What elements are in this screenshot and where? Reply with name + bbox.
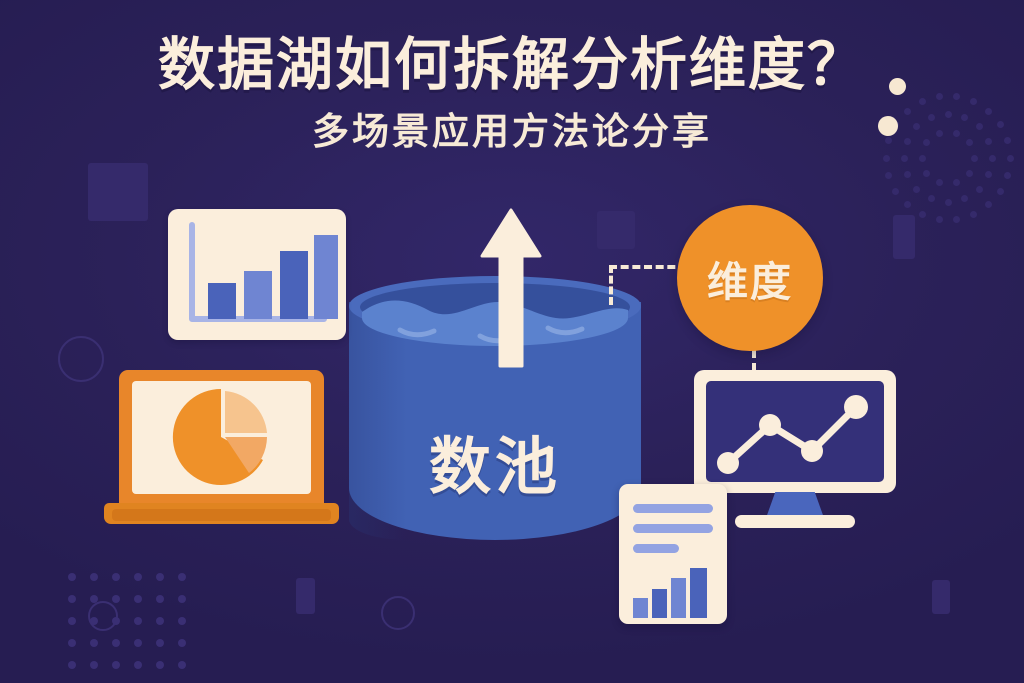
- deco-dot: [997, 188, 1004, 195]
- line-chart-icon: [706, 381, 884, 482]
- deco-dot: [985, 201, 992, 208]
- deco-dot: [156, 595, 164, 603]
- deco-ring-bottom-left: [381, 596, 415, 630]
- doc-text-line-1: [633, 504, 713, 513]
- deco-dot: [904, 171, 911, 178]
- deco-dot: [936, 216, 943, 223]
- deco-dot: [178, 617, 186, 625]
- deco-dot: [885, 172, 892, 179]
- deco-dot: [936, 179, 943, 186]
- doc-text-line-2: [633, 524, 713, 533]
- deco-dot: [178, 595, 186, 603]
- deco-dot: [156, 639, 164, 647]
- deco-dot: [883, 155, 890, 162]
- deco-dot-grid: [68, 573, 200, 683]
- deco-dot: [112, 617, 120, 625]
- deco-dot: [134, 639, 142, 647]
- deco-dot: [928, 195, 935, 202]
- deco-dot: [112, 595, 120, 603]
- deco-dot: [112, 573, 120, 581]
- deco-dot: [178, 661, 186, 669]
- page-title: 数据湖如何拆解分析维度？: [0, 32, 1024, 98]
- bar-chart-card[interactable]: [168, 209, 346, 340]
- laptop-foot: [112, 509, 331, 521]
- deco-dot: [913, 186, 920, 193]
- deco-dot: [953, 179, 960, 186]
- deco-dot: [989, 155, 996, 162]
- laptop-screen: [132, 381, 311, 494]
- poster-canvas: 数据湖如何拆解分析维度？ 多场景应用方法论分享 数池: [0, 0, 1024, 683]
- deco-square-top-left: [88, 163, 148, 221]
- deco-dot: [68, 595, 76, 603]
- deco-square-mid: [597, 211, 635, 249]
- deco-dot: [156, 617, 164, 625]
- up-arrow-icon: [480, 208, 542, 368]
- deco-dot: [68, 661, 76, 669]
- doc-text-line-3: [633, 544, 679, 553]
- page-subtitle: 多场景应用方法论分享: [0, 112, 1024, 153]
- deco-dot: [971, 155, 978, 162]
- deco-dot: [945, 199, 952, 206]
- deco-dot: [112, 661, 120, 669]
- deco-dot: [923, 170, 930, 177]
- bar-chart-icon: [168, 209, 346, 340]
- connector-lake-to-badge-horizontal: [609, 265, 687, 269]
- deco-dot: [134, 661, 142, 669]
- deco-dot: [156, 573, 164, 581]
- monitor-screen: [706, 381, 884, 482]
- deco-dot: [178, 573, 186, 581]
- deco-dot: [904, 201, 911, 208]
- deco-dot: [90, 617, 98, 625]
- deco-dot: [68, 639, 76, 647]
- deco-dot: [90, 639, 98, 647]
- deco-dot: [134, 617, 142, 625]
- deco-square-bottom: [296, 578, 315, 614]
- deco-dot: [1007, 155, 1014, 162]
- deco-dot: [90, 573, 98, 581]
- deco-dot: [68, 617, 76, 625]
- deco-dot: [970, 211, 977, 218]
- deco-dot: [961, 195, 968, 202]
- deco-dot: [68, 573, 76, 581]
- deco-dot: [90, 661, 98, 669]
- deco-dot: [892, 188, 899, 195]
- deco-dot: [919, 155, 926, 162]
- deco-dot: [134, 573, 142, 581]
- deco-dot: [901, 155, 908, 162]
- deco-dot: [919, 211, 926, 218]
- report-document-card[interactable]: [619, 484, 727, 624]
- deco-dot: [156, 661, 164, 669]
- deco-dot: [953, 216, 960, 223]
- deco-dot: [976, 186, 983, 193]
- deco-square-far-right: [932, 580, 950, 614]
- deco-dot: [112, 639, 120, 647]
- connector-lake-to-badge-vertical: [609, 265, 613, 305]
- pie-chart-icon: [132, 381, 311, 494]
- doc-bar-chart-icon: [619, 562, 727, 618]
- lake-label: 数池: [349, 416, 641, 506]
- title-block: 数据湖如何拆解分析维度？ 多场景应用方法论分享: [0, 32, 1024, 153]
- deco-dot: [90, 595, 98, 603]
- deco-dot: [178, 639, 186, 647]
- monitor-stand-base: [735, 515, 855, 528]
- laptop-device[interactable]: [104, 370, 339, 545]
- deco-dot: [1004, 172, 1011, 179]
- deco-dot: [985, 171, 992, 178]
- dimension-badge[interactable]: 维度: [677, 205, 823, 351]
- deco-dot: [966, 170, 973, 177]
- deco-dot: [134, 595, 142, 603]
- dimension-badge-label: 维度: [707, 248, 793, 308]
- deco-ring-left: [58, 336, 104, 382]
